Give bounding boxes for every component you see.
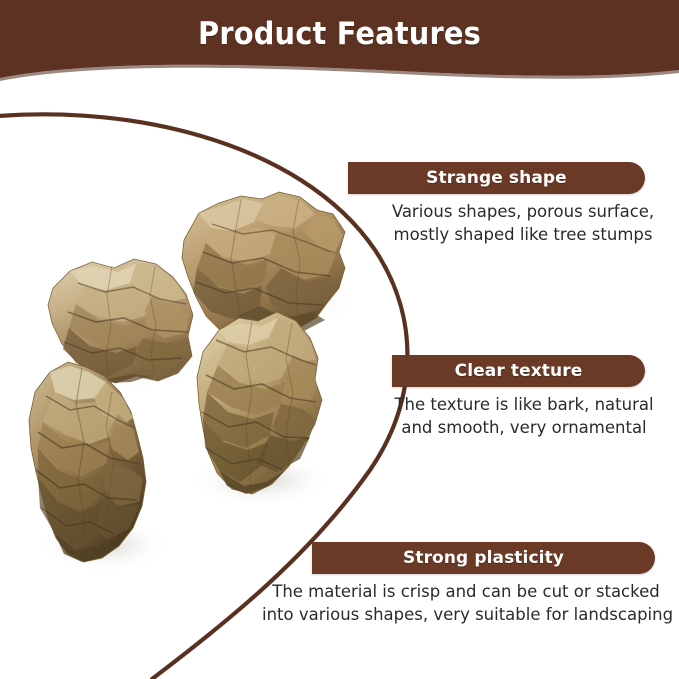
- feature-desc-line: The texture is like bark, natural: [378, 393, 670, 416]
- feature-description-strong-plasticity: The material is crisp and can be cut or …: [262, 580, 670, 626]
- feature-pill-strong-plasticity: Strong plasticity: [312, 542, 655, 574]
- feature-title-clear-texture: Clear texture: [392, 355, 645, 387]
- feature-desc-line: Various shapes, porous surface,: [378, 200, 668, 223]
- feature-pill-strange-shape: Strange shape: [348, 162, 645, 194]
- feature-description-strange-shape: Various shapes, porous surface, mostly s…: [378, 200, 668, 246]
- feature-title-strong-plasticity: Strong plasticity: [312, 542, 655, 574]
- page-title: Product Features: [24, 16, 655, 52]
- feature-desc-line: and smooth, very ornamental: [378, 416, 670, 439]
- feature-pill-clear-texture: Clear texture: [392, 355, 645, 387]
- infographic-canvas: Product Features: [0, 0, 679, 679]
- feature-desc-line: into various shapes, very suitable for l…: [262, 603, 670, 626]
- feature-desc-line: The material is crisp and can be cut or …: [262, 580, 670, 603]
- feature-description-clear-texture: The texture is like bark, natural and sm…: [378, 393, 670, 439]
- feature-title-strange-shape: Strange shape: [348, 162, 645, 194]
- feature-desc-line: mostly shaped like tree stumps: [378, 223, 668, 246]
- rock-collage-illustration: [0, 0, 679, 679]
- product-photo: [0, 0, 679, 679]
